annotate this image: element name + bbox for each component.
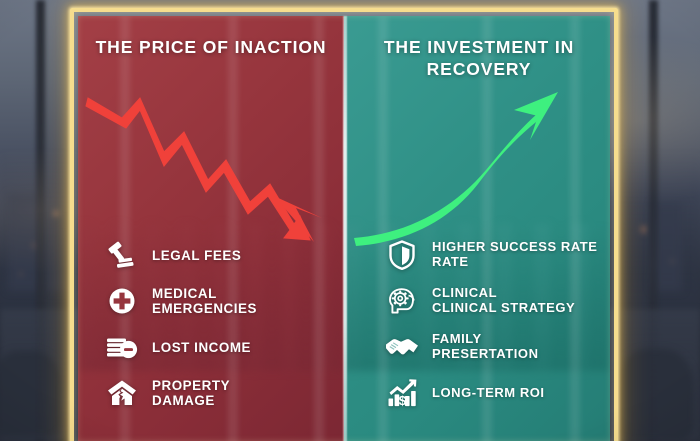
- background-chair-left: [0, 351, 62, 437]
- list-item-label: HIGHER SUCCESS RATE RATE: [432, 240, 598, 269]
- shield-icon: [380, 237, 424, 273]
- list-item[interactable]: LEGAL FEES: [100, 232, 334, 278]
- list-item-label: CLINICAL CLINICAL STRATEGY: [432, 286, 575, 315]
- rising-curved-arrow: [348, 88, 610, 248]
- list-item-label: FAMILY PRESERTATION: [432, 332, 539, 361]
- money-minus-icon: [100, 329, 144, 365]
- list-item-label: LEGAL FEES: [152, 248, 241, 263]
- right-item-list: HIGHER SUCCESS RATE RATE: [380, 232, 600, 416]
- list-item[interactable]: FAMILY PRESERTATION: [380, 324, 600, 370]
- list-item-label: PROPERTY DAMAGE: [152, 378, 230, 408]
- medical-cross-icon: [100, 283, 144, 319]
- brain-gear-icon: [380, 283, 424, 319]
- handshake-icon: [380, 329, 424, 365]
- left-panel-title: THE PRICE OF INACTION: [78, 36, 344, 58]
- infographic-slide: THE PRICE OF INACTION: [0, 0, 700, 441]
- list-item-label: LOST INCOME: [152, 340, 251, 355]
- right-panel-title: THE INVESTMENT IN RECOVERY: [348, 36, 610, 81]
- right-column: THE INVESTMENT IN RECOVERY HIGHER SUCCES…: [348, 0, 610, 441]
- svg-text:$: $: [399, 393, 407, 407]
- list-item-label: MEDICAL EMERGENCIES: [152, 286, 257, 316]
- list-item[interactable]: CLINICAL CLINICAL STRATEGY: [380, 278, 600, 324]
- left-column: THE PRICE OF INACTION: [78, 0, 344, 441]
- list-item[interactable]: PROPERTY DAMAGE: [100, 370, 334, 416]
- list-item[interactable]: MEDICAL EMERGENCIES: [100, 278, 334, 324]
- growth-chart-dollar-icon: $: [380, 375, 424, 411]
- background-chair-right: [616, 349, 694, 441]
- background-building-left-2: [46, 221, 68, 292]
- list-item-label: LONG-TERM ROI: [432, 386, 545, 401]
- declining-zigzag-arrow: [78, 88, 344, 248]
- list-item[interactable]: $ LONG-TERM ROI: [380, 370, 600, 416]
- broken-house-icon: [100, 375, 144, 411]
- left-item-list: LEGAL FEES MEDICAL EMERGENCIES: [100, 232, 334, 416]
- list-item[interactable]: HIGHER SUCCESS RATE RATE: [380, 232, 600, 278]
- gavel-icon: [100, 237, 144, 273]
- list-item[interactable]: LOST INCOME: [100, 324, 334, 370]
